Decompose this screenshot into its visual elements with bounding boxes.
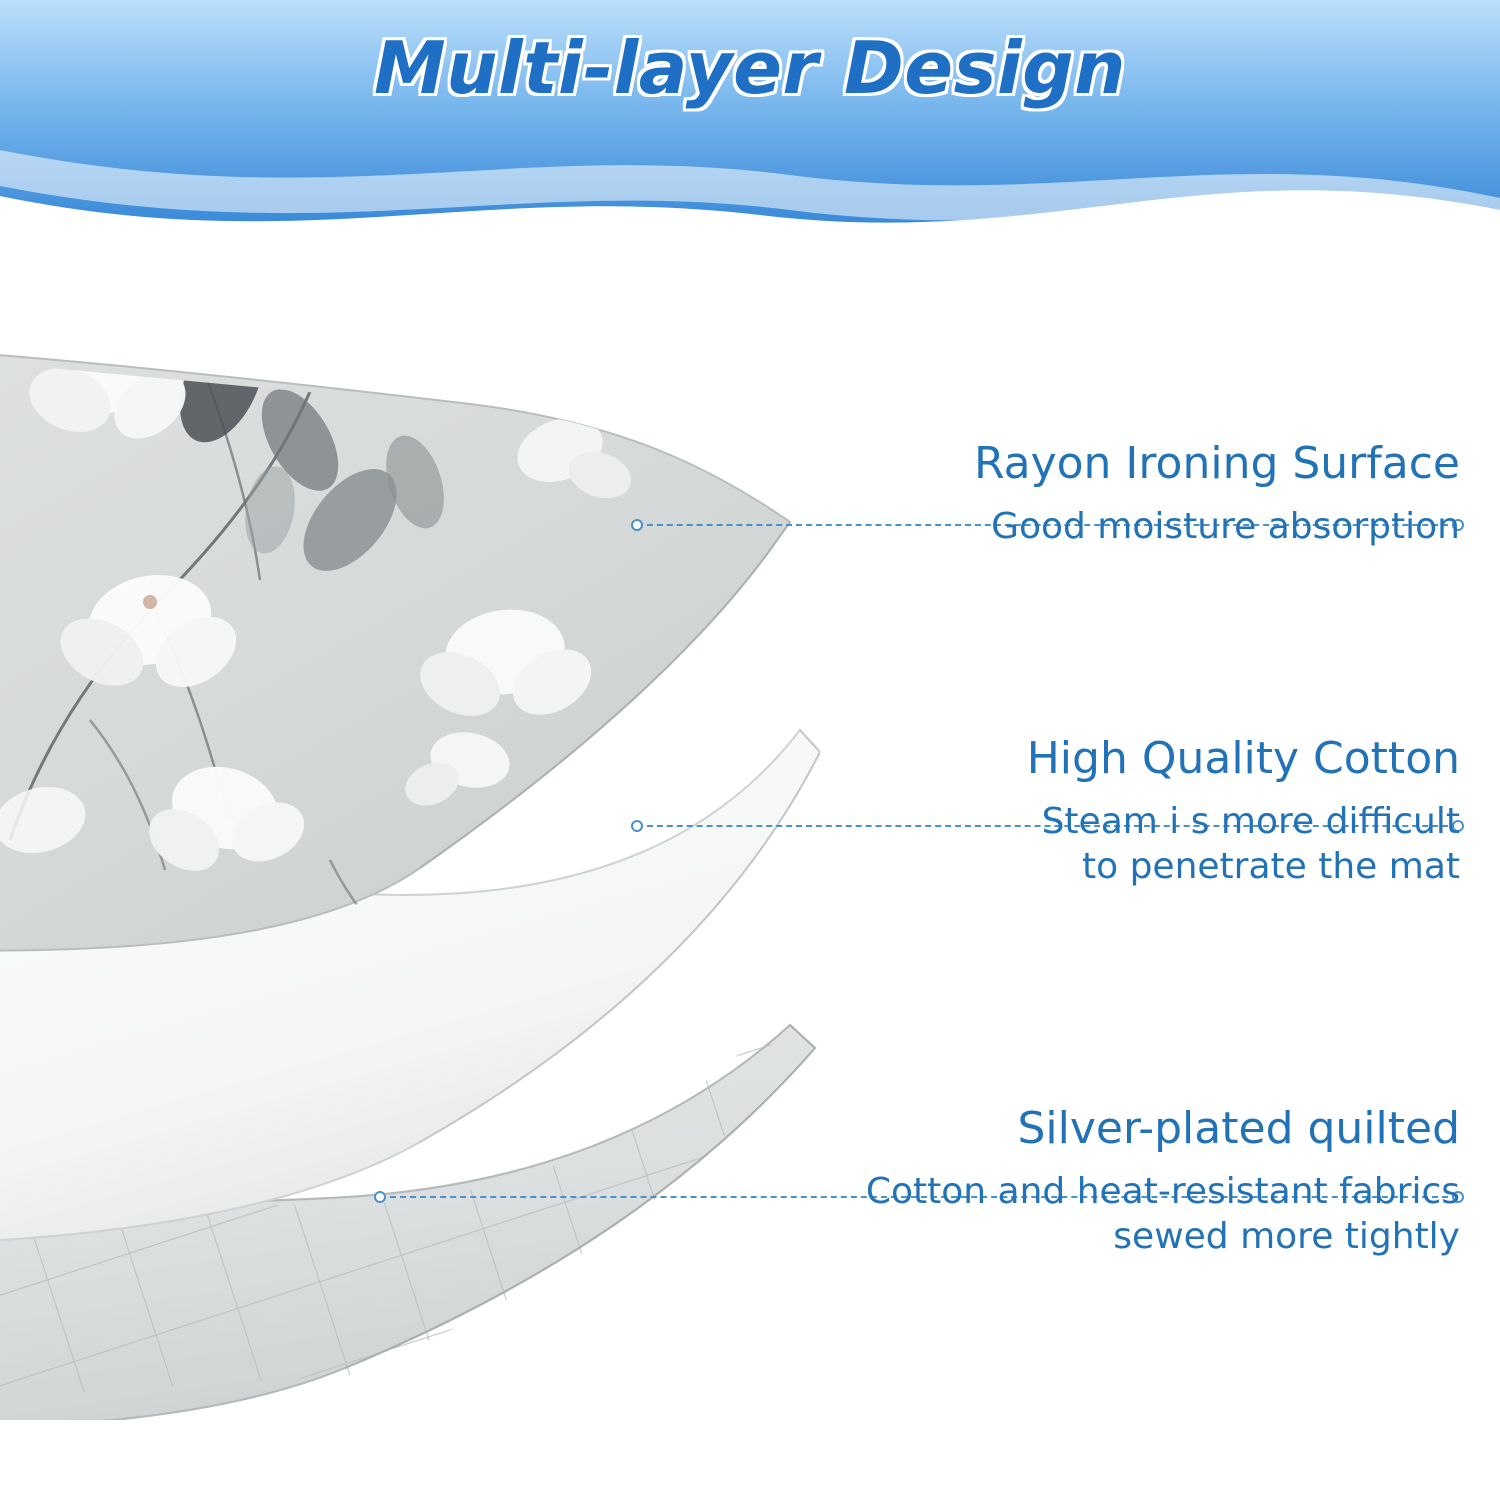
product-infographic: Multi-layer Design (0, 0, 1500, 1500)
callout-subtext-line: sewed more tightly (700, 1214, 1460, 1259)
callout-headline: High Quality Cotton (700, 735, 1460, 783)
callout-headline: Rayon Ironing Surface (700, 440, 1460, 488)
callout-subtext-line: to penetrate the mat (700, 844, 1460, 889)
header-banner: Multi-layer Design (0, 0, 1500, 260)
callout-silver-plated-quilted: Silver-plated quilted Cotton and heat-re… (700, 1105, 1460, 1259)
callout-subtext-line: Cotton and heat-resistant fabrics (700, 1169, 1460, 1214)
page-title: Multi-layer Design (0, 26, 1500, 110)
callout-high-quality-cotton: High Quality Cotton Steam i s more diffi… (700, 735, 1460, 889)
leader-dot-start (374, 1191, 386, 1203)
layers-svg (0, 300, 820, 1420)
callout-rayon-ironing-surface: Rayon Ironing Surface Good moisture abso… (700, 440, 1460, 549)
callout-subtext-line: Steam i s more difficult (700, 799, 1460, 844)
callout-headline: Silver-plated quilted (700, 1105, 1460, 1153)
layer-illustration (0, 300, 820, 1420)
callout-subtext-line: Good moisture absorption (700, 504, 1460, 549)
leader-dot-start (631, 820, 643, 832)
leader-dot-start (631, 519, 643, 531)
